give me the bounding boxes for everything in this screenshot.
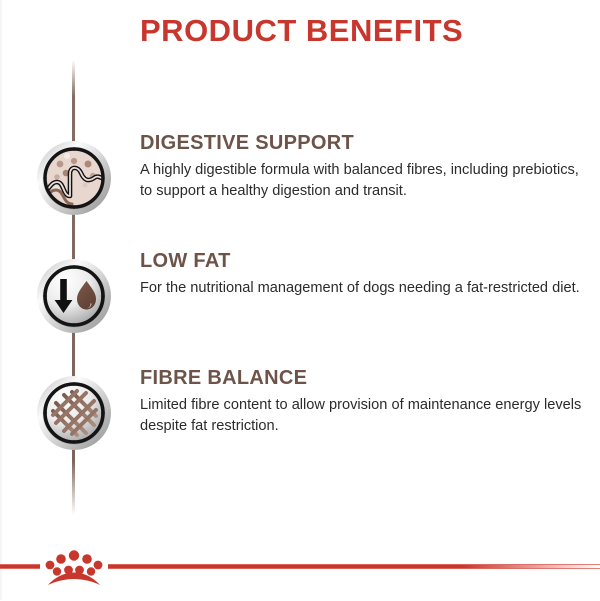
product-benefits-panel: PRODUCT BENEFITS: [0, 0, 600, 600]
footer-rule-left: [0, 564, 40, 569]
page-title: PRODUCT BENEFITS: [140, 14, 580, 48]
benefit-text-block: DIGESTIVE SUPPORT A highly digestible fo…: [140, 132, 588, 201]
royal-canin-crown-logo: [40, 540, 108, 596]
benefit-body: For the nutritional management of dogs n…: [140, 278, 588, 299]
digestive-intestine-icon: [36, 140, 112, 216]
down-arrow-fat-droplet-icon: [36, 258, 112, 334]
benefit-text-block: FIBRE BALANCE Limited fibre content to a…: [140, 367, 588, 436]
footer: [0, 540, 600, 600]
benefit-body: Limited fibre content to allow provision…: [140, 395, 588, 436]
fibre-crosshatch-icon: [36, 375, 112, 451]
benefit-heading: LOW FAT: [140, 250, 588, 273]
benefit-heading: DIGESTIVE SUPPORT: [140, 132, 588, 155]
benefit-text-block: LOW FAT For the nutritional management o…: [140, 250, 588, 299]
left-edge-shade: [0, 0, 3, 600]
footer-rule-right: [108, 564, 600, 569]
benefit-body: A highly digestible formula with balance…: [140, 160, 588, 201]
benefit-heading: FIBRE BALANCE: [140, 367, 588, 390]
